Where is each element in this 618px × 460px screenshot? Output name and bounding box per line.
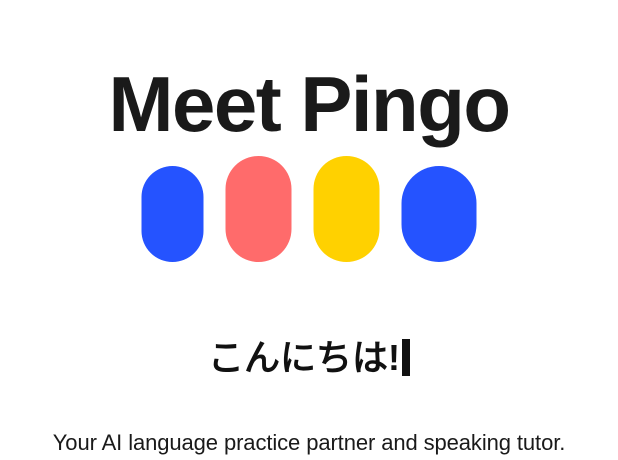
pill-blue-right-icon bbox=[402, 166, 477, 262]
pill-blue-left-icon bbox=[142, 166, 204, 262]
typed-greeting: こんにちは! bbox=[0, 334, 618, 382]
pill-yellow-icon bbox=[314, 156, 380, 262]
pingo-mascot bbox=[0, 150, 618, 262]
tagline: Your AI language practice partner and sp… bbox=[0, 426, 618, 460]
text-caret-icon bbox=[402, 339, 410, 376]
pill-coral-icon bbox=[226, 156, 292, 262]
pingo-pill-group bbox=[142, 150, 477, 262]
page-title: Meet Pingo bbox=[0, 56, 618, 152]
greeting-text: こんにちは! bbox=[208, 337, 400, 378]
app-screen: Meet Pingo こんにちは! Your AI language pract… bbox=[0, 0, 618, 452]
